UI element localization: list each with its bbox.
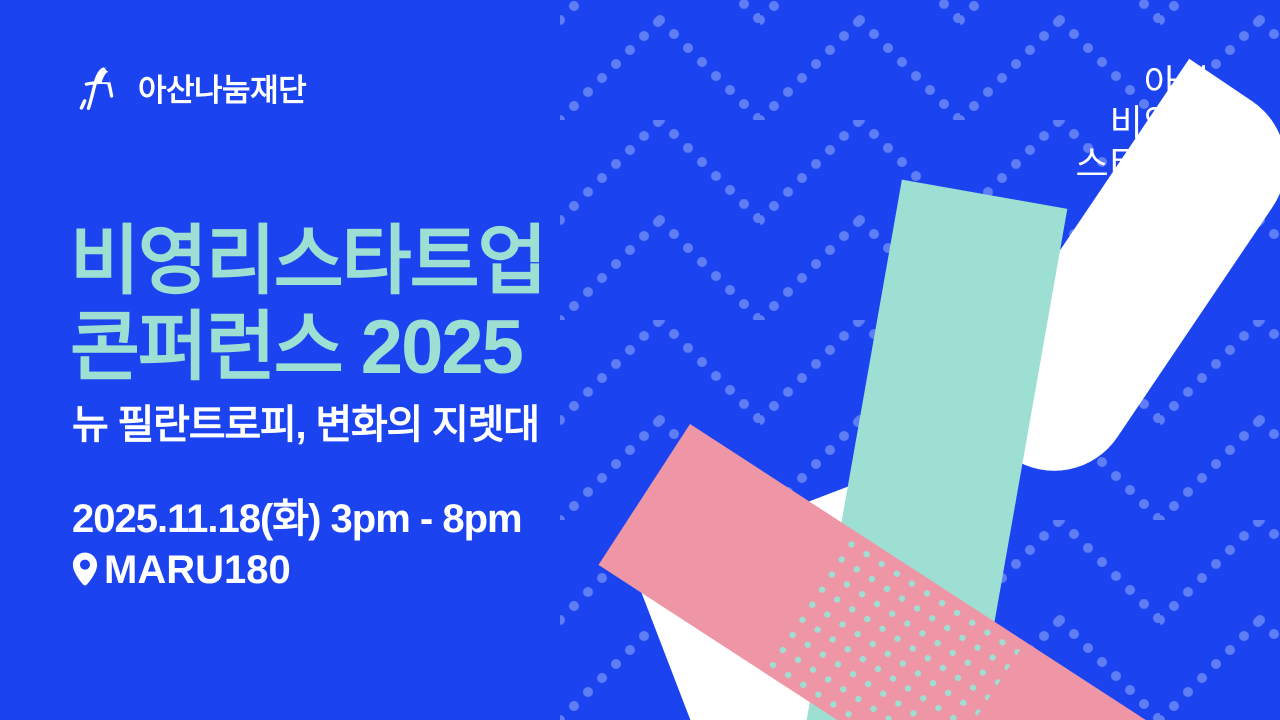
event-venue: MARU180 [72, 546, 522, 595]
asan-a-mark-icon [72, 60, 126, 114]
event-date: 2025.11.18(화) 3pm - 8pm [72, 495, 522, 544]
program-wordmark-line-3: 스타트업 [1076, 145, 1212, 185]
page-title: 비영리스타트업 콘퍼런스 2025 [70, 219, 545, 391]
page-subtitle: 뉴 필란트로피, 변화의 지렛대 [72, 392, 539, 450]
foundation-wordmark: 아산나눔재단 [138, 65, 306, 110]
location-pin-icon [72, 552, 98, 586]
program-wordmark: 아산 비영리 스타트업 [1076, 64, 1212, 185]
page-title-line-2: 콘퍼런스 2025 [70, 305, 545, 391]
event-venue-label: MARU180 [104, 546, 291, 595]
program-wordmark-line-2: 비영리 [1076, 104, 1212, 144]
event-details: 2025.11.18(화) 3pm - 8pm MARU180 [72, 495, 522, 595]
conference-poster: 아산나눔재단 아산 비영리 스타트업 비영리스타트업 콘퍼런스 2025 뉴 필… [0, 0, 1280, 720]
foundation-logo: 아산나눔재단 [72, 60, 306, 114]
program-wordmark-line-1: 아산 [1076, 64, 1212, 104]
page-title-line-1: 비영리스타트업 [70, 219, 545, 305]
